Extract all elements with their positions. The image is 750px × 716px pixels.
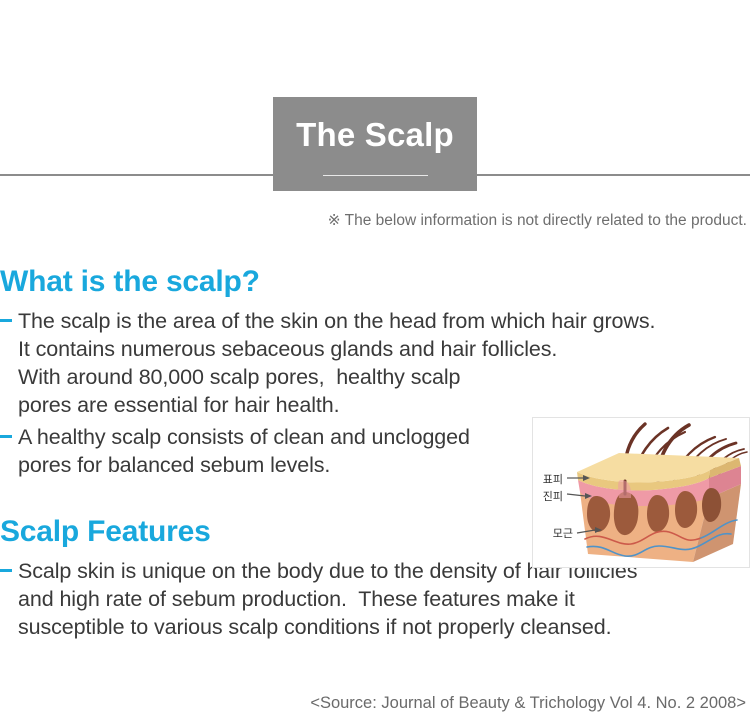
dash-bullet-icon — [0, 435, 12, 438]
label-hair-root: 모근 — [553, 527, 573, 540]
bullet-item: Scalp skin is unique on the body due to … — [0, 557, 750, 641]
dash-bullet-icon — [0, 569, 12, 572]
skin-layers-diagram: 표피 진피 모근 — [533, 418, 749, 567]
page-title: The Scalp — [273, 97, 477, 169]
bullet-item: The scalp is the area of the skin on the… — [0, 307, 750, 419]
disclaimer-note: ※ The below information is not directly … — [328, 211, 747, 230]
label-epidermis: 표피 — [543, 473, 563, 486]
dash-bullet-icon — [0, 319, 12, 322]
title-band: The Scalp — [273, 97, 477, 191]
source-citation: <Source: Journal of Beauty & Trichology … — [310, 694, 746, 713]
bullet-text: The scalp is the area of the skin on the… — [18, 307, 750, 419]
bullet-text: Scalp skin is unique on the body due to … — [18, 557, 750, 641]
page-header: The Scalp — [0, 0, 750, 196]
scalp-cross-section-figure: 표피 진피 모근 — [532, 417, 750, 568]
title-underline — [323, 175, 428, 176]
label-dermis: 진피 — [543, 490, 563, 503]
section-heading-what-is-the-scalp: What is the scalp? — [0, 265, 750, 299]
